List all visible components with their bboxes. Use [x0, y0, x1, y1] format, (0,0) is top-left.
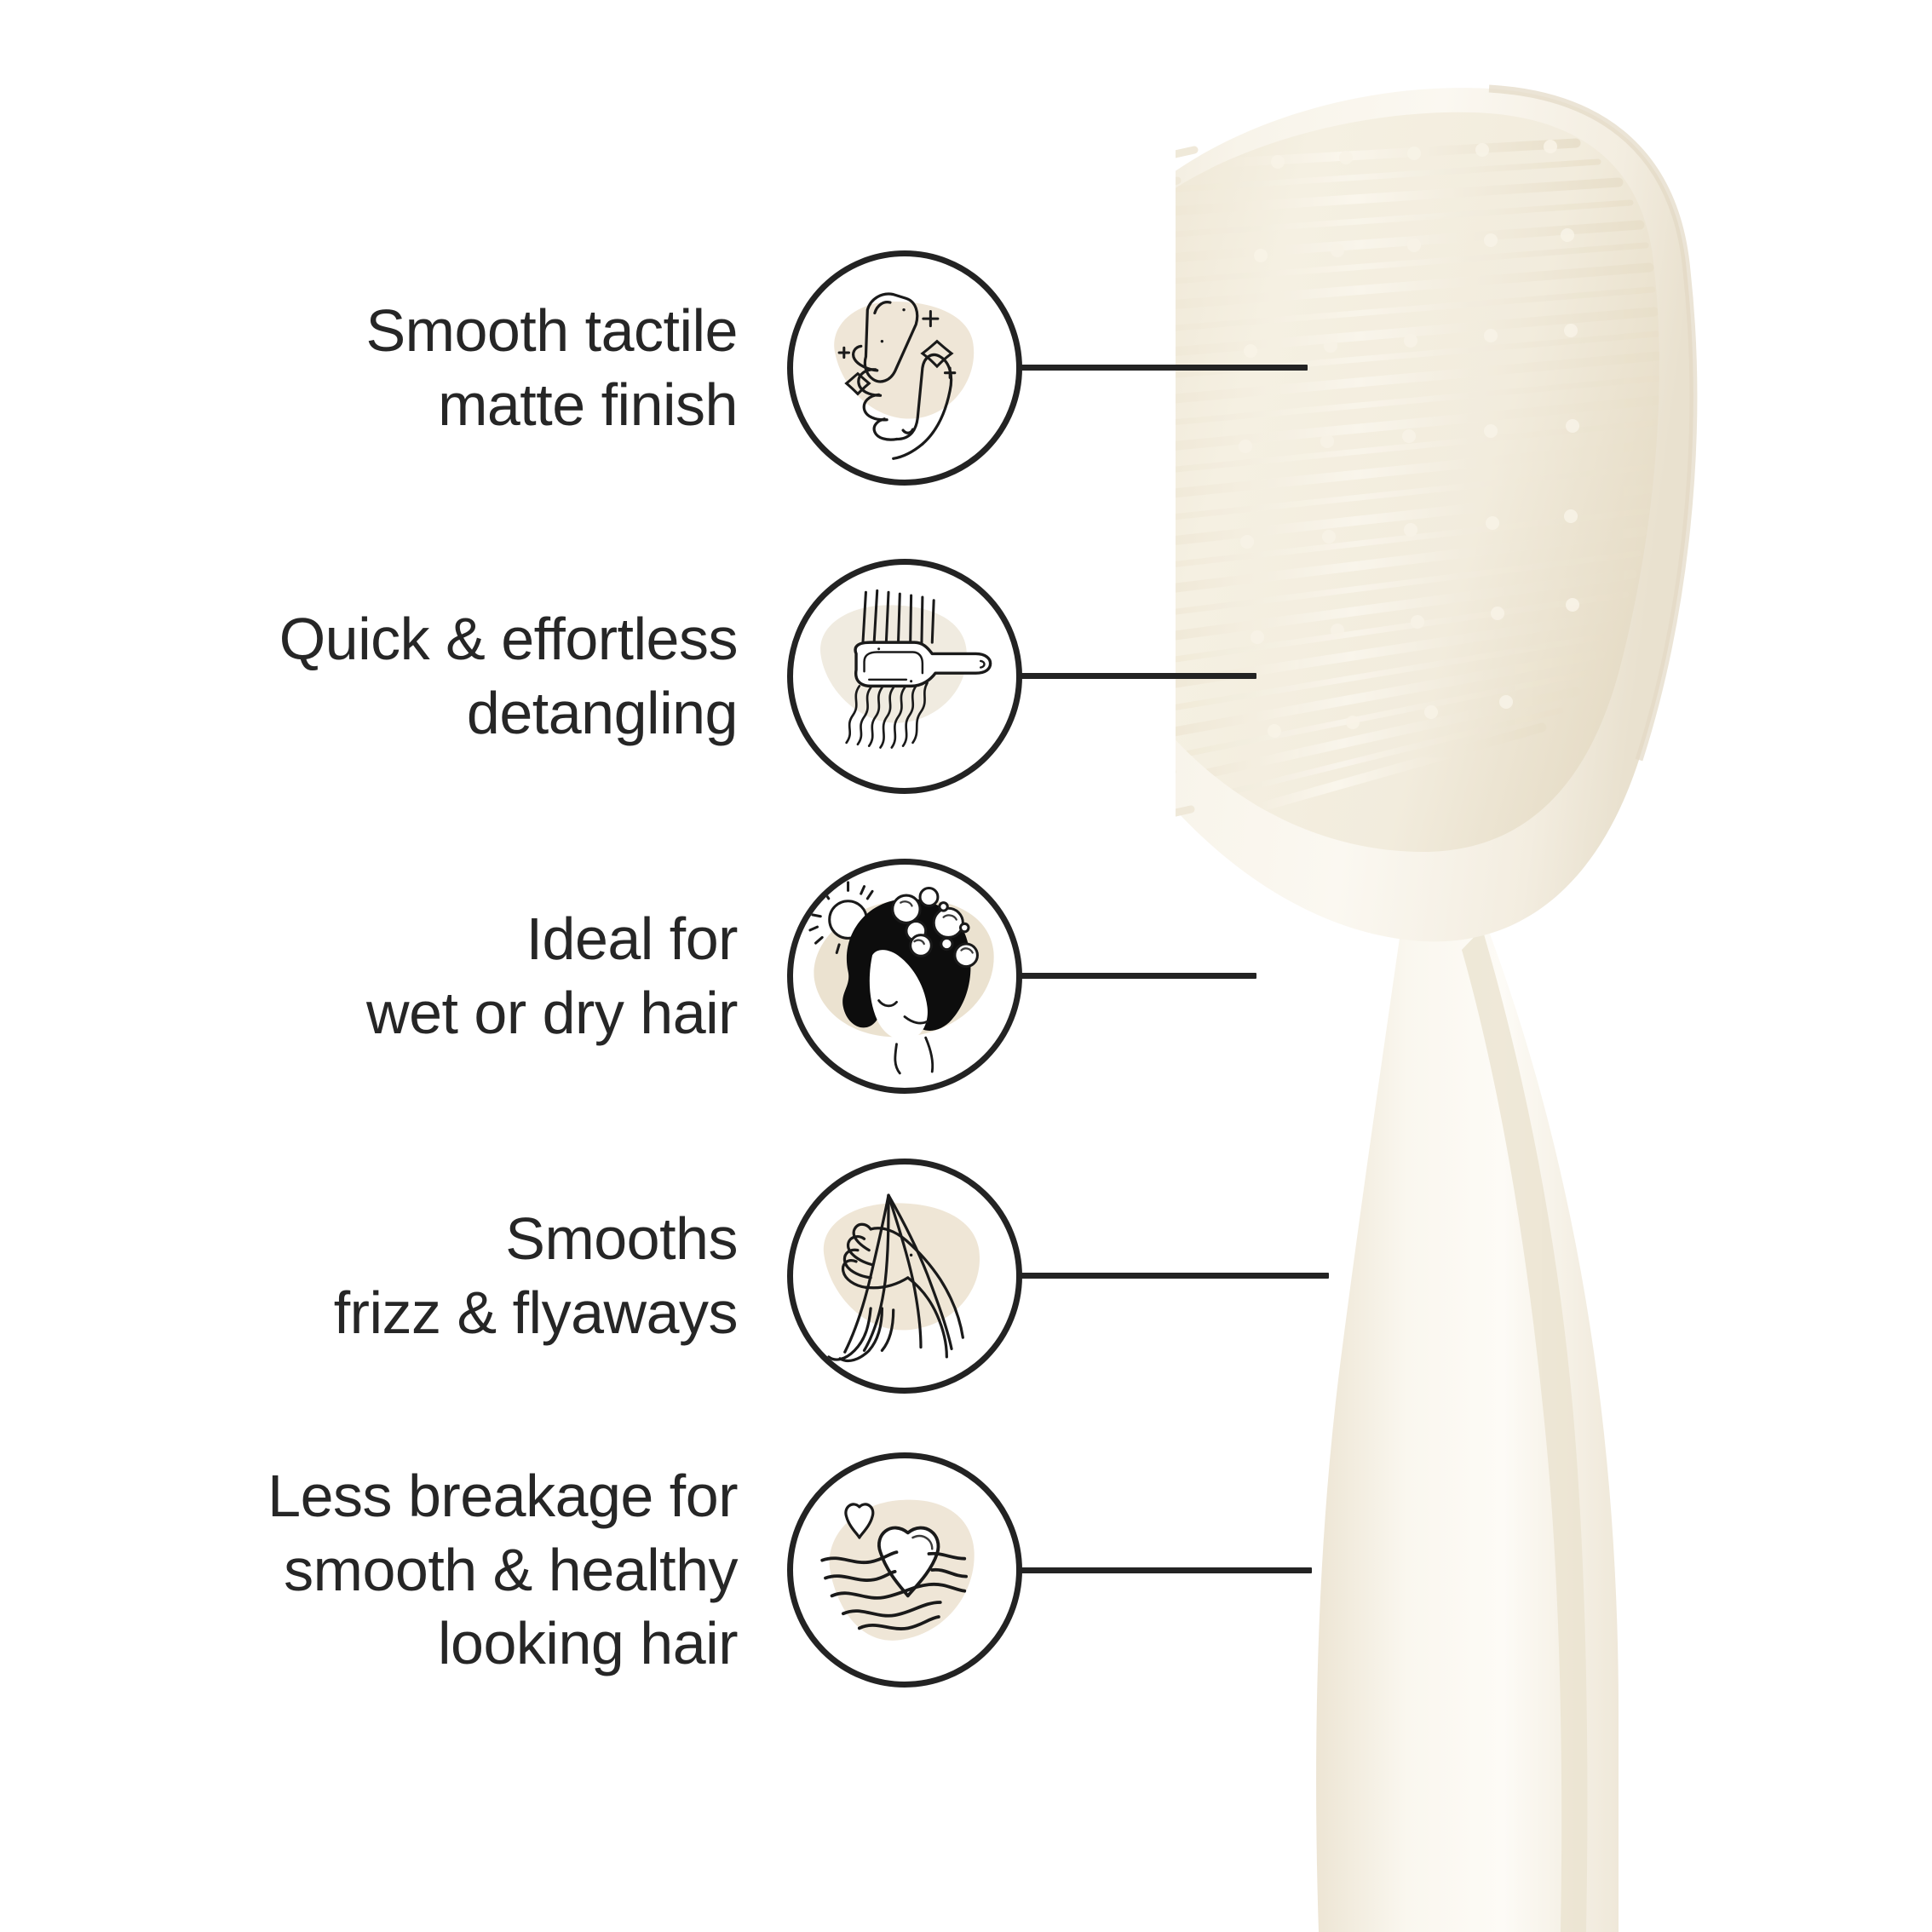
woman-curly-hair-bubbles-sun-icon	[787, 859, 1022, 1094]
connector-line-3	[1001, 973, 1256, 979]
bristle-spikes-left	[1176, 150, 1194, 843]
brush-bristle-pad	[1176, 85, 1721, 903]
connector-line-4	[1001, 1273, 1329, 1279]
hand-smoothing-hair-strand-icon	[787, 1159, 1022, 1394]
brush-handle	[1316, 792, 1619, 1932]
connector-line-2	[1001, 673, 1256, 679]
brush-handle-highlight-edge	[1462, 929, 1587, 1932]
product-feature-infographic: Smooth tactile matte finish	[0, 0, 1932, 1932]
feature-label-ideal-for-wet-or-dry-hair: Ideal for wet or dry hair	[0, 902, 787, 1050]
feature-label-quick-effortless-detangling: Quick & effortless detangling	[0, 602, 787, 750]
connector-line-1	[1001, 365, 1308, 371]
feature-row-quick-effortless-detangling: Quick & effortless detangling	[0, 549, 1022, 804]
brush-detangling-hair-icon	[787, 559, 1022, 794]
feature-label-less-breakage-healthy-hair: Less breakage for smooth & healthy looki…	[0, 1459, 787, 1681]
brush-head-rim	[1489, 89, 1693, 760]
feature-row-less-breakage-healthy-hair: Less breakage for smooth & healthy looki…	[0, 1442, 1022, 1698]
feature-row-ideal-for-wet-or-dry-hair: Ideal for wet or dry hair	[0, 848, 1022, 1104]
hearts-over-wavy-hair-icon	[787, 1452, 1022, 1688]
feature-label-smooths-frizz-flyaways: Smooths frizz & flyaways	[0, 1202, 787, 1350]
feature-label-smooth-tactile-matte-finish: Smooth tactile matte finish	[0, 294, 787, 442]
hand-holding-brush-sparkle-icon	[787, 250, 1022, 486]
feature-row-smooths-frizz-flyaways: Smooths frizz & flyaways	[0, 1148, 1022, 1404]
feature-row-smooth-tactile-matte-finish: Smooth tactile matte finish	[0, 240, 1022, 496]
brush-head-back	[1176, 88, 1693, 941]
connector-line-5	[1001, 1567, 1312, 1573]
product-image-hair-brush	[1176, 0, 1932, 1932]
bristle-tips	[1239, 140, 1579, 738]
